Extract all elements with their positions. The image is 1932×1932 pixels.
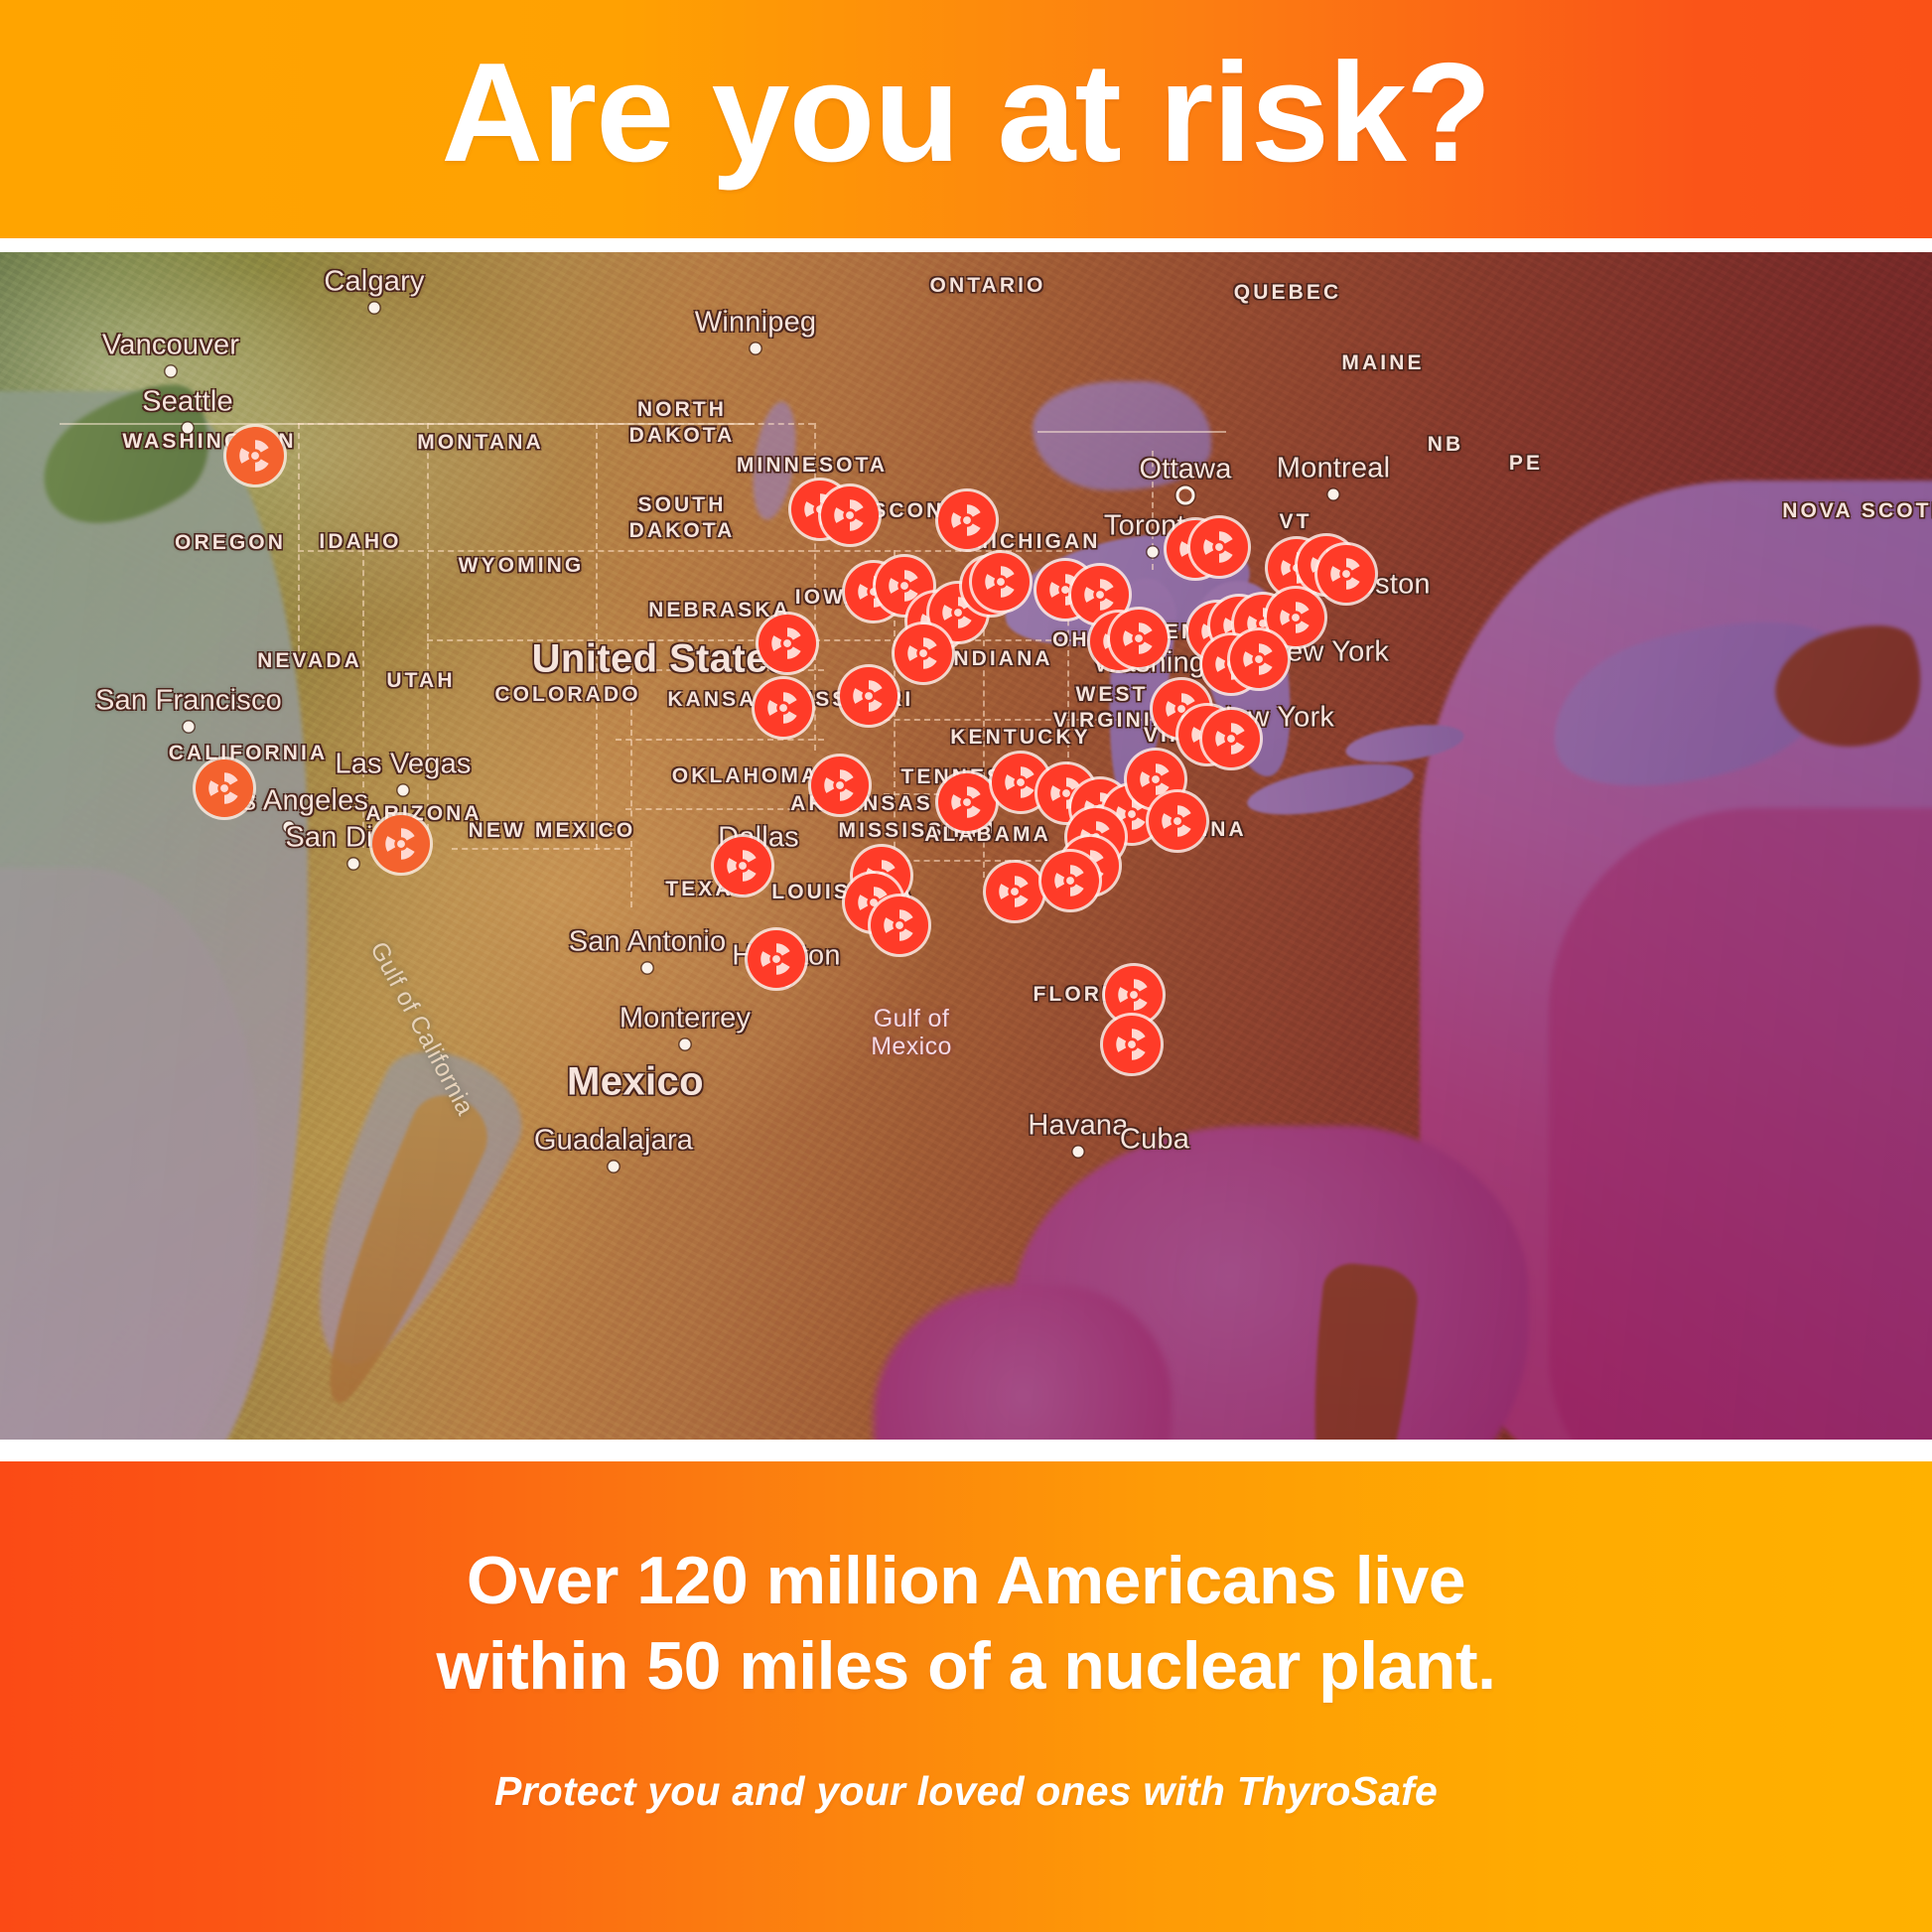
nuclear-plant-marker[interactable] xyxy=(1041,852,1099,909)
footer-subtext: Protect you and your loved ones with Thy… xyxy=(494,1768,1438,1815)
border-h-3 xyxy=(427,639,814,641)
border-h-10 xyxy=(854,719,1152,721)
nuclear-plant-marker[interactable] xyxy=(759,615,816,672)
radiation-trefoil-icon xyxy=(1160,803,1195,839)
city-dot xyxy=(1073,1147,1084,1158)
radiation-trefoil-icon xyxy=(237,438,273,474)
nuclear-plant-marker[interactable] xyxy=(871,897,928,954)
radiation-trefoil-icon xyxy=(1201,529,1237,565)
radiation-trefoil-icon xyxy=(1082,577,1118,613)
city-dot xyxy=(398,785,409,796)
nuclear-plant-marker[interactable] xyxy=(714,837,771,895)
city-dot xyxy=(369,303,380,314)
heat-tint-overlay xyxy=(0,252,1932,1440)
border-h-5 xyxy=(616,739,824,741)
radiation-trefoil-icon xyxy=(997,874,1033,909)
border-h-8 xyxy=(814,550,1072,552)
border-h-7 xyxy=(452,848,630,850)
radiation-trefoil-icon xyxy=(769,625,805,661)
capital-dot xyxy=(1176,486,1195,505)
radiation-trefoil-icon xyxy=(949,502,985,538)
nuclear-plant-marker[interactable] xyxy=(226,427,284,484)
radiation-trefoil-icon xyxy=(765,690,801,726)
city-dot xyxy=(680,1039,691,1050)
radiation-trefoil-icon xyxy=(1241,641,1277,677)
border-v-3 xyxy=(362,550,364,848)
border-h-1 xyxy=(298,423,814,425)
page-title: Are you at risk? xyxy=(441,43,1490,184)
radiation-trefoil-icon xyxy=(1278,600,1313,635)
footer-banner: Over 120 million Americans live within 5… xyxy=(0,1461,1932,1932)
radiation-trefoil-icon xyxy=(725,848,760,884)
nuclear-plant-marker[interactable] xyxy=(938,491,996,549)
radiation-trefoil-icon xyxy=(1052,863,1088,898)
map-panel[interactable]: United StatesMexicoONTARIOQUEBECNBPENOVA… xyxy=(0,252,1932,1440)
city-dot xyxy=(183,423,194,434)
city-dot xyxy=(184,722,195,733)
nuclear-plant-marker[interactable] xyxy=(840,667,897,725)
footer-headline-line2: within 50 miles of a nuclear plant. xyxy=(437,1624,1496,1710)
city-dot xyxy=(348,859,359,870)
radiation-trefoil-icon xyxy=(983,564,1019,600)
city-dot xyxy=(642,963,653,974)
footer-headline: Over 120 million Americans live within 5… xyxy=(437,1539,1496,1709)
radiation-trefoil-icon xyxy=(1116,977,1152,1013)
nuclear-plant-marker[interactable] xyxy=(986,863,1043,920)
poster-root: Are you at risk? xyxy=(0,0,1932,1932)
city-dot xyxy=(609,1162,620,1173)
nuclear-plant-marker[interactable] xyxy=(895,624,952,682)
nuclear-plant-marker[interactable] xyxy=(1110,610,1168,667)
border-v-6 xyxy=(814,423,816,751)
radiation-trefoil-icon xyxy=(905,635,941,671)
nuclear-plant-marker[interactable] xyxy=(938,773,996,831)
nuclear-plant-marker[interactable] xyxy=(755,679,812,737)
nuclear-plant-marker[interactable] xyxy=(196,759,253,817)
radiation-trefoil-icon xyxy=(882,907,917,943)
radiation-trefoil-icon xyxy=(949,784,985,820)
city-dot xyxy=(1328,489,1339,500)
map-canvas[interactable]: United StatesMexicoONTARIOQUEBECNBPENOVA… xyxy=(0,252,1932,1440)
radiation-trefoil-icon xyxy=(1328,556,1364,592)
radiation-trefoil-icon xyxy=(1138,761,1173,797)
radiation-trefoil-icon xyxy=(207,770,242,806)
nuclear-plant-marker[interactable] xyxy=(1230,630,1288,688)
nuclear-plant-marker[interactable] xyxy=(1103,1016,1161,1073)
border-v-2 xyxy=(427,423,429,840)
nuclear-plant-marker[interactable] xyxy=(1190,518,1248,576)
radiation-trefoil-icon xyxy=(851,678,887,714)
footer-headline-line1: Over 120 million Americans live xyxy=(437,1539,1496,1624)
header-banner: Are you at risk? xyxy=(0,0,1932,238)
radiation-trefoil-icon xyxy=(1114,1027,1150,1062)
nuclear-plant-marker[interactable] xyxy=(748,930,805,988)
radiation-trefoil-icon xyxy=(1003,764,1038,800)
city-dot xyxy=(284,822,295,833)
radiation-trefoil-icon xyxy=(832,497,868,533)
nuclear-plant-marker[interactable] xyxy=(811,757,869,814)
border-v-4 xyxy=(596,423,598,850)
nuclear-plant-marker[interactable] xyxy=(1317,545,1375,603)
city-dot xyxy=(751,344,761,354)
radiation-trefoil-icon xyxy=(1121,621,1157,656)
nuclear-plant-marker[interactable] xyxy=(1202,710,1260,767)
border-v-1 xyxy=(298,423,300,651)
nuclear-plant-marker[interactable] xyxy=(1149,792,1206,850)
city-dot xyxy=(166,366,177,377)
city-dot xyxy=(1148,547,1159,558)
nuclear-plant-marker[interactable] xyxy=(821,486,879,544)
us-canada-border-east xyxy=(1037,431,1226,433)
radiation-trefoil-icon xyxy=(1213,721,1249,757)
radiation-trefoil-icon xyxy=(822,767,858,803)
border-v-5 xyxy=(630,669,632,907)
nuclear-plant-marker[interactable] xyxy=(972,553,1030,611)
border-h-2 xyxy=(298,550,814,552)
radiation-trefoil-icon xyxy=(759,941,794,977)
nuclear-plant-marker[interactable] xyxy=(372,815,430,873)
radiation-trefoil-icon xyxy=(383,826,419,862)
border-h-6 xyxy=(625,808,824,810)
